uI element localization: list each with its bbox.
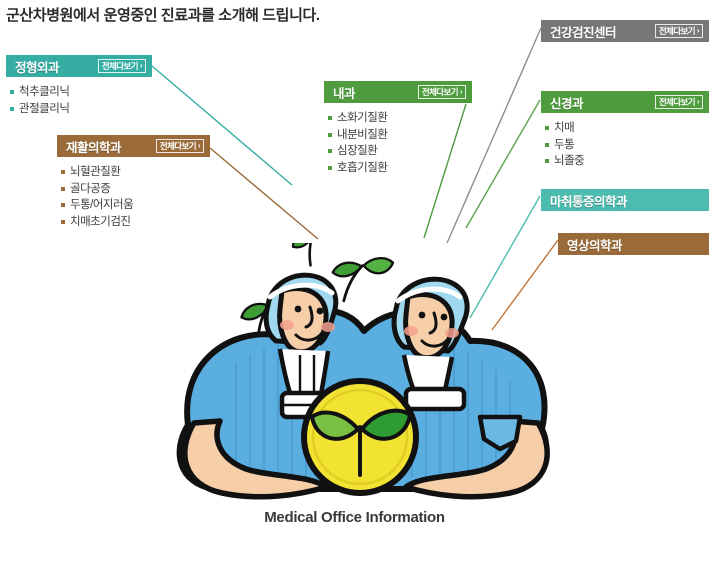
dept-title: 영상의학과: [567, 235, 622, 254]
list-item[interactable]: 심장질환: [327, 143, 472, 160]
view-all-label: 전체다보기: [659, 25, 695, 37]
chevron-right-icon: ›: [140, 62, 142, 70]
left-doctor-blush: [280, 320, 294, 330]
list-item[interactable]: 내분비질환: [327, 127, 472, 144]
left-doctor-blush: [321, 322, 335, 332]
connector-rehabilitation: [210, 148, 318, 239]
dept-card-radiology: 영상의학과: [558, 233, 709, 255]
dept-title: 마취통증의학과: [550, 191, 627, 210]
view-all-label: 전체다보기: [160, 140, 196, 152]
dept-header-rehabilitation: 재활의학과 전체다보기 ›: [57, 135, 210, 157]
list-item[interactable]: 소화기질환: [327, 110, 472, 127]
list-item[interactable]: 치매초기검진: [60, 214, 210, 231]
chevron-right-icon: ›: [198, 142, 200, 150]
list-item[interactable]: 관절클리닉: [9, 101, 152, 118]
left-doctor-eye: [317, 308, 324, 315]
dept-card-orthopedics: 정형외과 전체다보기 › 척추클리닉 관절클리닉: [6, 55, 152, 117]
list-item[interactable]: 두통/어지러움: [60, 197, 210, 214]
chevron-right-icon: ›: [697, 98, 699, 106]
leaf-sprout-icon: [330, 253, 394, 305]
dept-title: 내과: [333, 83, 355, 102]
infographic-canvas: 군산차병원에서 운영중인 진료과를 소개해 드립니다. 정형외과 전체다보기 ›…: [0, 0, 709, 565]
right-doctor-blush: [445, 328, 459, 338]
dept-card-anesthesiology-pain-medicine: 마취통증의학과: [541, 189, 709, 211]
list-item[interactable]: 두통: [544, 137, 709, 154]
right-doctor-eye: [419, 312, 426, 319]
dept-card-rehabilitation: 재활의학과 전체다보기 › 뇌혈관질환 골다공증 두통/어지러움 치매초기검진: [57, 135, 210, 230]
right-doctor-eye: [441, 314, 448, 321]
illustration-caption: Medical Office Information: [0, 509, 709, 526]
list-item[interactable]: 치매: [544, 120, 709, 137]
dept-title: 정형외과: [15, 57, 59, 76]
right-doctor-blush: [404, 326, 418, 336]
dept-list-orthopedics: 척추클리닉 관절클리닉: [6, 84, 152, 117]
list-item[interactable]: 뇌졸중: [544, 153, 709, 170]
left-doctor-eye: [295, 306, 302, 313]
list-item[interactable]: 호흡기질환: [327, 160, 472, 177]
dept-header-orthopedics: 정형외과 전체다보기 ›: [6, 55, 152, 77]
view-all-button-neurology[interactable]: 전체다보기 ›: [655, 95, 703, 109]
dept-title: 재활의학과: [66, 137, 121, 156]
dept-list-internal-medicine: 소화기질환 내분비질환 심장질환 호흡기질환: [324, 110, 472, 176]
dept-list-rehabilitation: 뇌혈관질환 골다공증 두통/어지러움 치매초기검진: [57, 164, 210, 230]
chevron-right-icon: ›: [697, 27, 699, 35]
dept-card-health-checkup-center: 건강검진센터 전체다보기 ›: [541, 20, 709, 42]
dept-card-internal-medicine: 내과 전체다보기 › 소화기질환 내분비질환 심장질환 호흡기질환: [324, 81, 472, 176]
view-all-button-rehabilitation[interactable]: 전체다보기 ›: [156, 139, 204, 153]
view-all-button-internal-medicine[interactable]: 전체다보기 ›: [418, 85, 466, 99]
dept-header-radiology: 영상의학과: [558, 233, 709, 255]
right-doctor-chest-band: [406, 389, 464, 409]
connector-neurology: [466, 100, 540, 228]
view-all-label: 전체다보기: [102, 60, 138, 72]
list-item[interactable]: 척추클리닉: [9, 84, 152, 101]
list-item[interactable]: 골다공증: [60, 181, 210, 198]
list-item[interactable]: 뇌혈관질환: [60, 164, 210, 181]
medical-illustration: [150, 243, 570, 513]
view-all-label: 전체다보기: [659, 96, 695, 108]
view-all-button-health-checkup-center[interactable]: 전체다보기 ›: [655, 24, 703, 38]
dept-header-anesthesiology-pain-medicine: 마취통증의학과: [541, 189, 709, 211]
page-title: 군산차병원에서 운영중인 진료과를 소개해 드립니다.: [6, 4, 320, 25]
dept-card-neurology: 신경과 전체다보기 › 치매 두통 뇌졸중: [541, 91, 709, 170]
chevron-right-icon: ›: [460, 88, 462, 96]
dept-header-health-checkup-center: 건강검진센터 전체다보기 ›: [541, 20, 709, 42]
dept-list-neurology: 치매 두통 뇌졸중: [541, 120, 709, 170]
dept-title: 신경과: [550, 93, 583, 112]
dept-header-neurology: 신경과 전체다보기 ›: [541, 91, 709, 113]
dept-header-internal-medicine: 내과 전체다보기 ›: [324, 81, 472, 103]
view-all-button-orthopedics[interactable]: 전체다보기 ›: [98, 59, 146, 73]
view-all-label: 전체다보기: [422, 86, 458, 98]
dept-title: 건강검진센터: [550, 22, 616, 41]
